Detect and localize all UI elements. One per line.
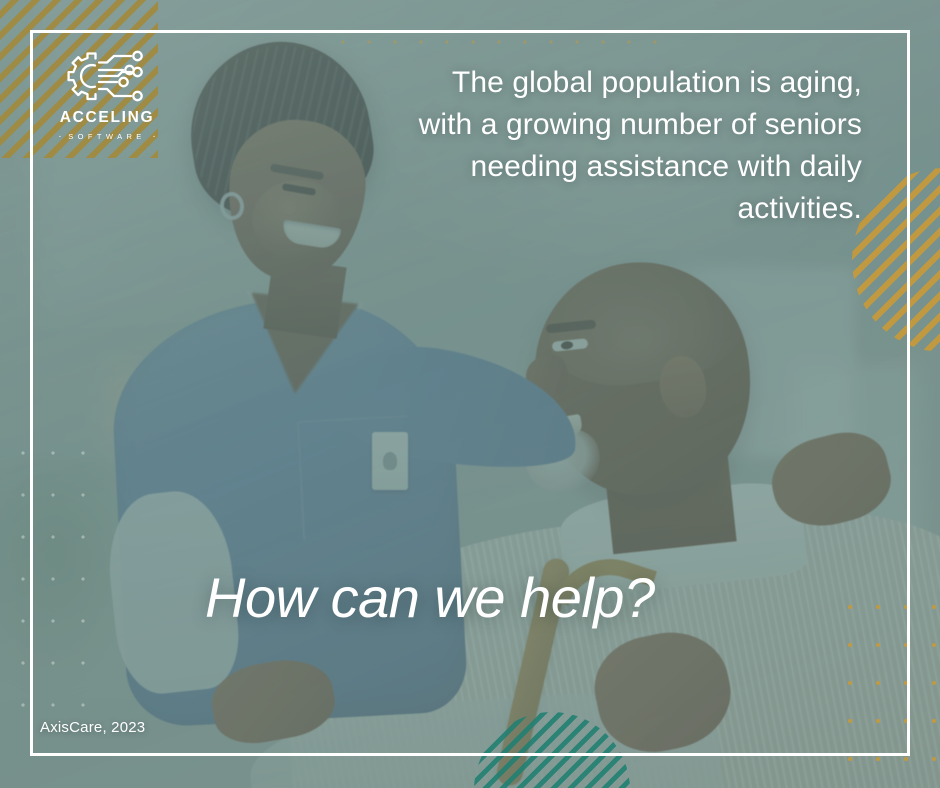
brand-logo[interactable]: ACCELING SOFTWARE <box>52 48 162 144</box>
brand-name: ACCELING <box>52 110 162 126</box>
call-to-action-text: How can we help? <box>205 570 655 626</box>
gear-circuit-icon <box>59 48 155 104</box>
brand-tagline: SOFTWARE <box>58 133 155 141</box>
social-graphic-canvas: ACCELING SOFTWARE The global population … <box>0 0 940 788</box>
gold-dot-grid-bottom-right <box>836 588 940 788</box>
source-credit: AxisCare, 2023 <box>40 719 145 736</box>
headline-text: The global population is aging, with a g… <box>392 62 862 230</box>
white-dot-grid-left <box>8 432 104 732</box>
gold-dot-row-top <box>330 34 670 50</box>
